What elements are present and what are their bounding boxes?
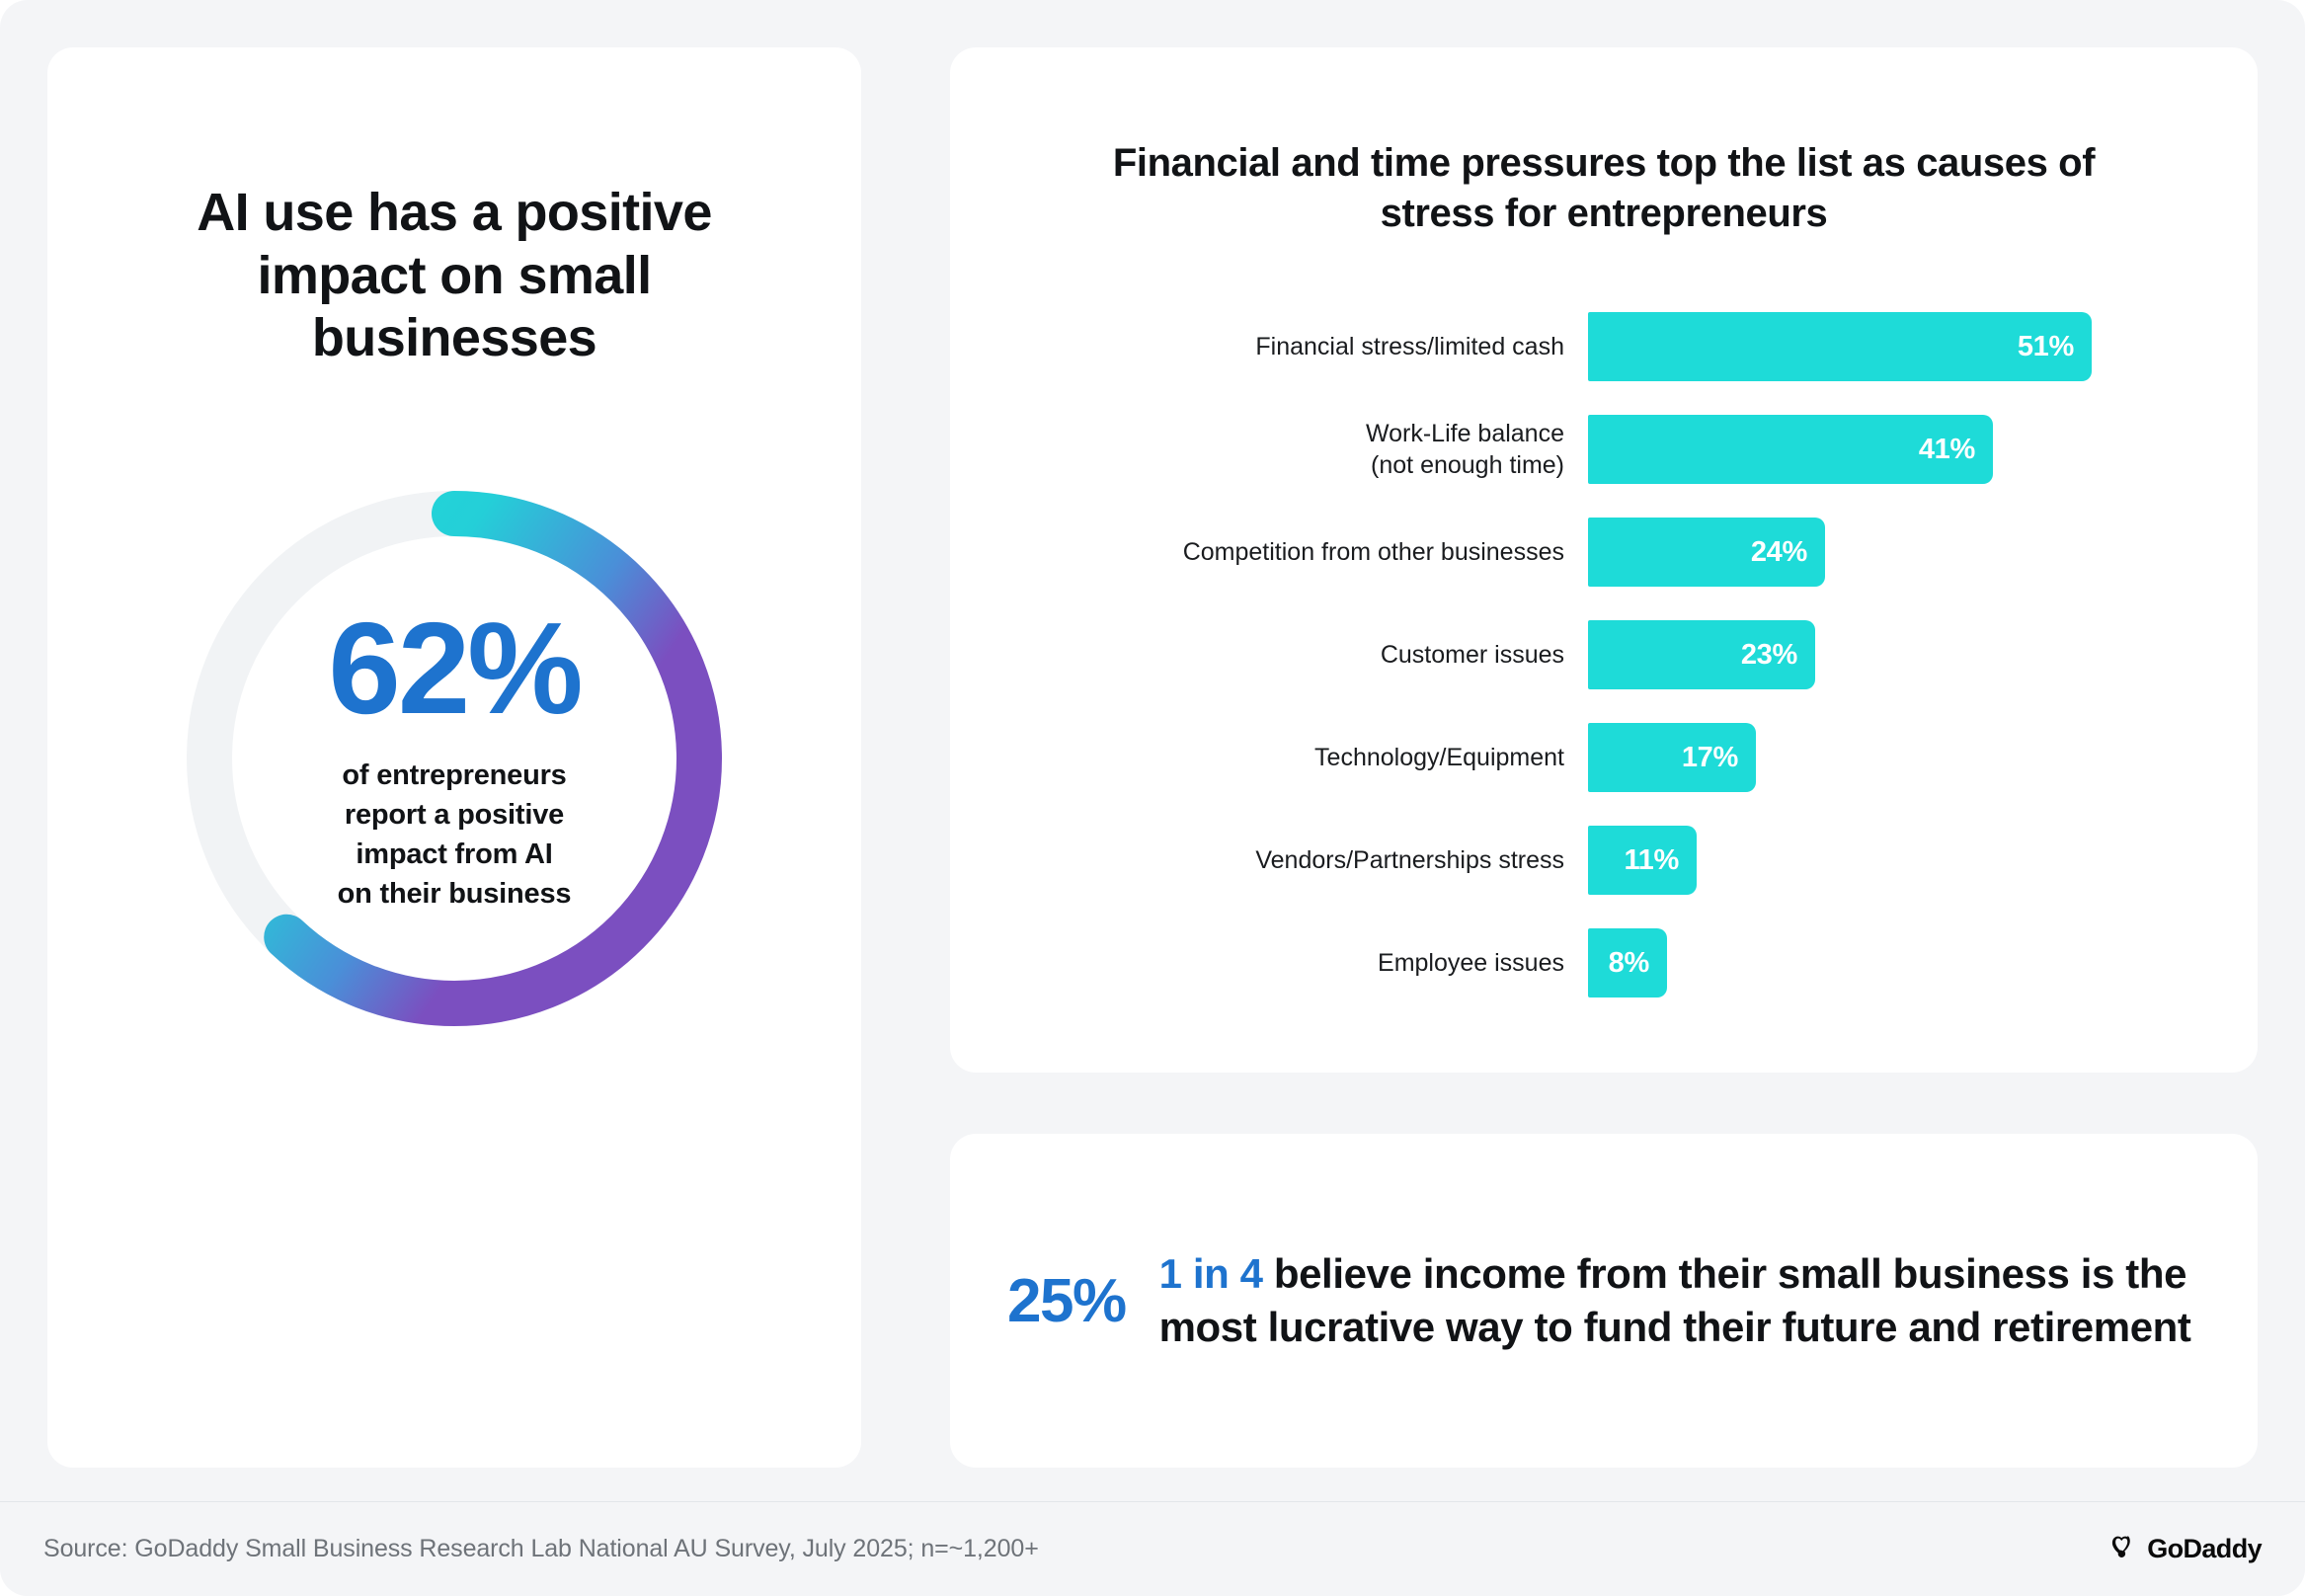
bar-fill: 23% (1588, 620, 1815, 689)
bar-track: 51% (1588, 312, 2258, 381)
infographic-page: AI use has a positive impact on small bu… (0, 0, 2305, 1596)
godaddy-heart-icon (2107, 1532, 2137, 1566)
bar-row: Competition from other businesses24% (950, 518, 2258, 587)
stat-rest: believe income from their small business… (1159, 1250, 2191, 1350)
bar-fill: 24% (1588, 518, 1825, 587)
bar-category-label: Competition from other businesses (950, 536, 1588, 569)
bar-fill: 11% (1588, 826, 1697, 895)
bar-value-label: 17% (1682, 742, 1738, 774)
bar-track: 41% (1588, 415, 2258, 484)
bar-category-label: Technology/Equipment (950, 742, 1588, 774)
bar-row: Financial stress/limited cash51% (950, 312, 2258, 381)
bar-row: Employee issues8% (950, 928, 2258, 997)
stat-percentage: 25% (1007, 1266, 1126, 1336)
income-stat-card: 25% 1 in 4 believe income from their sma… (950, 1134, 2258, 1468)
bar-row: Work-Life balance (not enough time)41% (950, 415, 2258, 484)
donut-caption: of entrepreneurs report a positive impac… (338, 756, 572, 914)
stress-causes-card: Financial and time pressures top the lis… (950, 47, 2258, 1073)
bar-chart-title: Financial and time pressures top the lis… (1069, 138, 2139, 239)
bar-value-label: 8% (1609, 947, 1649, 980)
donut-center-label: 62% of entrepreneurs report a positive i… (158, 462, 751, 1055)
bar-value-label: 41% (1919, 434, 1975, 466)
bar-track: 17% (1588, 723, 2258, 792)
bar-track: 24% (1588, 518, 2258, 587)
bar-row: Technology/Equipment17% (950, 723, 2258, 792)
bar-category-label: Vendors/Partnerships stress (950, 844, 1588, 877)
bar-track: 8% (1588, 928, 2258, 997)
ai-impact-card: AI use has a positive impact on small bu… (47, 47, 861, 1468)
bar-row: Vendors/Partnerships stress11% (950, 826, 2258, 895)
stat-description: 1 in 4 believe income from their small b… (1159, 1247, 2202, 1354)
source-note: Source: GoDaddy Small Business Research … (43, 1535, 1039, 1563)
donut-chart: 62% of entrepreneurs report a positive i… (158, 462, 751, 1055)
bar-fill: 51% (1588, 312, 2092, 381)
stat-row: 25% 1 in 4 believe income from their sma… (1007, 1134, 2202, 1468)
stat-highlight: 1 in 4 (1159, 1250, 1263, 1297)
bar-value-label: 24% (1751, 536, 1807, 569)
bar-value-label: 51% (2018, 331, 2074, 363)
bar-category-label: Employee issues (950, 947, 1588, 980)
page-title: AI use has a positive impact on small bu… (136, 182, 772, 370)
bar-fill: 17% (1588, 723, 1756, 792)
bar-category-label: Work-Life balance (not enough time) (950, 418, 1588, 482)
bar-track: 11% (1588, 826, 2258, 895)
godaddy-wordmark: GoDaddy (2147, 1534, 2262, 1564)
bar-track: 23% (1588, 620, 2258, 689)
bar-category-label: Financial stress/limited cash (950, 331, 1588, 363)
bar-fill: 41% (1588, 415, 1993, 484)
bar-row: Customer issues23% (950, 620, 2258, 689)
bar-value-label: 11% (1624, 844, 1679, 877)
bar-fill: 8% (1588, 928, 1667, 997)
footer: Source: GoDaddy Small Business Research … (0, 1501, 2305, 1596)
bar-category-label: Customer issues (950, 639, 1588, 672)
godaddy-logo: GoDaddy (2107, 1532, 2262, 1566)
bar-value-label: 23% (1741, 639, 1797, 672)
donut-percentage: 62% (328, 603, 580, 734)
bar-chart-plot: Financial stress/limited cash51%Work-Lif… (950, 312, 2258, 1031)
